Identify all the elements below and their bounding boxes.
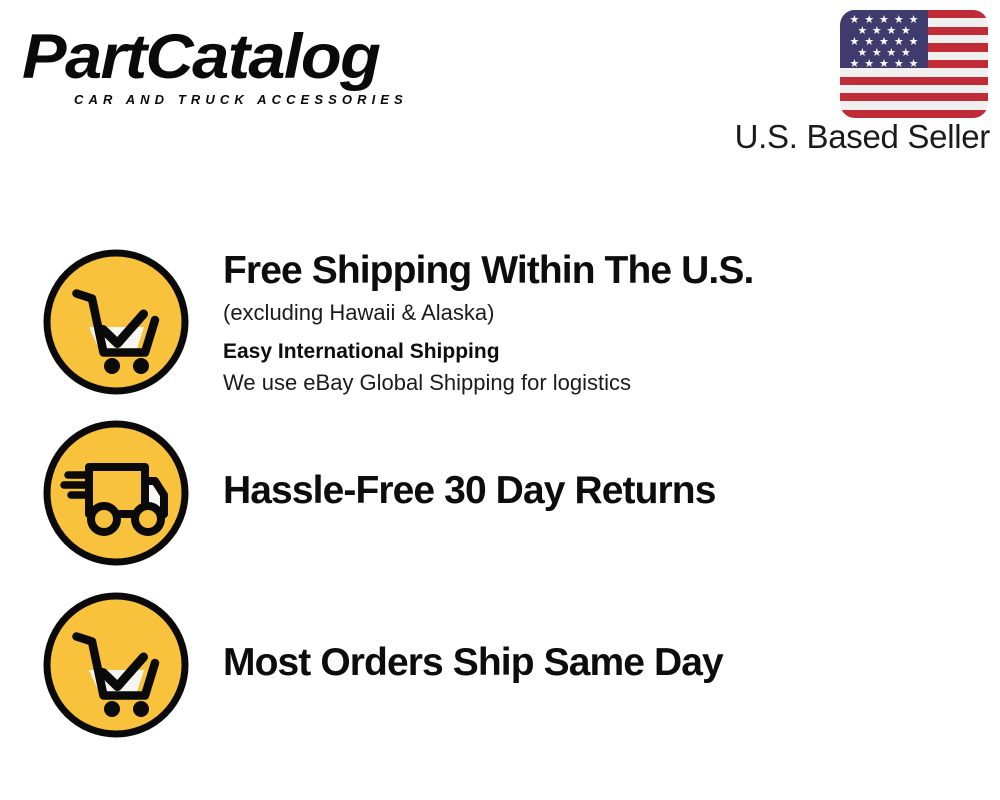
flag-canton: ★ ★ ★ ★ ★ ★ ★ ★ ★ ★ ★ ★ ★ ★: [840, 10, 928, 68]
flag-stripe: [840, 85, 988, 93]
feature-heading: Most Orders Ship Same Day: [223, 640, 983, 686]
shopping-cart-check-icon: [42, 248, 190, 396]
star-icon: ★: [909, 59, 919, 70]
feature-heading: Hassle-Free 30 Day Returns: [223, 468, 983, 514]
feature-subtext-secondary: We use eBay Global Shipping for logistic…: [223, 368, 983, 398]
brand-tagline: CAR AND TRUCK ACCESSORIES: [74, 92, 492, 107]
star-icon: ★: [864, 59, 874, 70]
shopping-cart-check-icon: [42, 591, 190, 739]
feature-subheading: Easy International Shipping: [223, 337, 983, 367]
us-based-seller-label: U.S. Based Seller: [735, 118, 990, 156]
delivery-truck-icon: [42, 419, 190, 567]
brand-wordmark: PartCatalog: [22, 24, 520, 90]
star-icon: ★: [894, 59, 904, 70]
feature-heading: Free Shipping Within The U.S.: [223, 248, 983, 294]
seller-info-banner: PartCatalog CAR AND TRUCK ACCESSORIES ★ …: [0, 0, 1000, 800]
flag-stripe: [840, 101, 988, 109]
feature-text: Free Shipping Within The U.S. (excluding…: [223, 248, 983, 398]
star-icon: ★: [879, 59, 889, 70]
flag-stripe: [840, 110, 988, 118]
us-flag-icon: ★ ★ ★ ★ ★ ★ ★ ★ ★ ★ ★ ★ ★ ★: [840, 10, 988, 118]
star-icon: ★: [849, 59, 859, 70]
feature-subtext: (excluding Hawaii & Alaska): [223, 298, 983, 328]
feature-text: Hassle-Free 30 Day Returns: [223, 468, 983, 514]
flag-stripe: [840, 93, 988, 101]
feature-text: Most Orders Ship Same Day: [223, 640, 983, 686]
flag-star-field: ★ ★ ★ ★ ★ ★ ★ ★ ★ ★ ★ ★ ★ ★: [840, 10, 928, 68]
brand-logo: PartCatalog CAR AND TRUCK ACCESSORIES: [22, 24, 492, 114]
star-row: ★ ★ ★ ★ ★: [847, 59, 921, 70]
flag-stripe: [840, 77, 988, 85]
